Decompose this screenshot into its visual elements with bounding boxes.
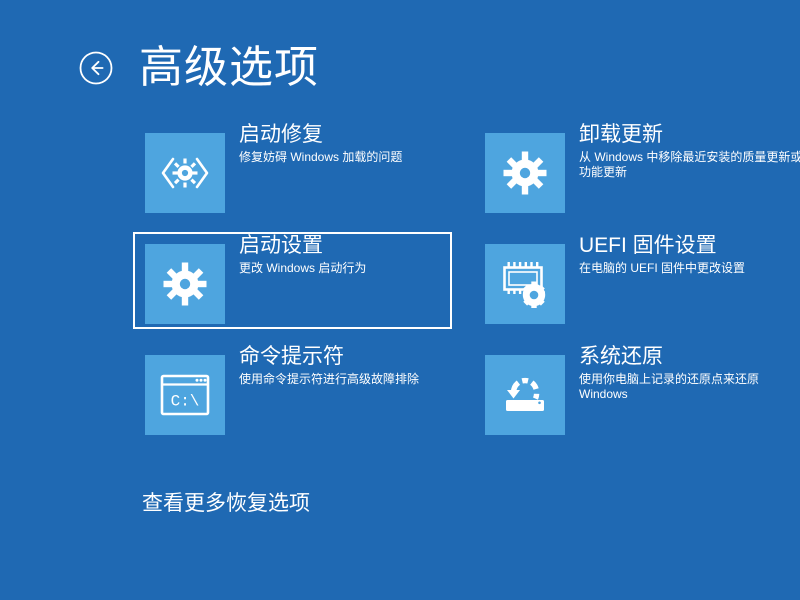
- tile-title: 命令提示符: [239, 344, 469, 370]
- gear-icon: [145, 244, 225, 324]
- tile-command-prompt[interactable]: C:\ 命令提示符 使用命令提示符进行高级故障排除: [145, 355, 465, 435]
- brackets-gear-icon: [145, 133, 225, 213]
- tile-text: 启动设置 更改 Windows 启动行为: [239, 233, 469, 276]
- svg-text:C:\: C:\: [171, 393, 200, 411]
- tile-title: 系统还原: [579, 344, 800, 370]
- tile-title: UEFI 固件设置: [579, 233, 800, 259]
- options-row-2: 启动设置 更改 Windows 启动行为: [0, 244, 800, 324]
- options-grid: 启动修复 修复妨碍 Windows 加载的问题: [0, 0, 800, 600]
- restore-drive-icon: [485, 355, 565, 435]
- gear-icon: [485, 133, 565, 213]
- tile-system-restore[interactable]: 系统还原 使用你电脑上记录的还原点来还原 Windows: [485, 355, 800, 435]
- tile-description: 使用你电脑上记录的还原点来还原 Windows: [579, 372, 800, 402]
- tile-title: 启动修复: [239, 122, 469, 148]
- tile-text: 卸载更新 从 Windows 中移除最近安装的质量更新或功能更新: [579, 122, 800, 180]
- tile-startup-settings[interactable]: 启动设置 更改 Windows 启动行为: [145, 244, 465, 324]
- console-window-icon: C:\: [145, 355, 225, 435]
- tile-title: 卸载更新: [579, 122, 800, 148]
- advanced-options-screen: 高级选项: [0, 0, 800, 600]
- options-row-3: C:\ 命令提示符 使用命令提示符进行高级故障排除: [0, 355, 800, 435]
- tile-text: 命令提示符 使用命令提示符进行高级故障排除: [239, 344, 469, 387]
- tile-text: 系统还原 使用你电脑上记录的还原点来还原 Windows: [579, 344, 800, 402]
- tile-uefi-firmware-settings[interactable]: UEFI 固件设置 在电脑的 UEFI 固件中更改设置: [485, 244, 800, 324]
- tile-uninstall-updates[interactable]: 卸载更新 从 Windows 中移除最近安装的质量更新或功能更新: [485, 133, 800, 213]
- tile-startup-repair[interactable]: 启动修复 修复妨碍 Windows 加载的问题: [145, 133, 465, 213]
- tile-text: UEFI 固件设置 在电脑的 UEFI 固件中更改设置: [579, 233, 800, 276]
- tile-description: 从 Windows 中移除最近安装的质量更新或功能更新: [579, 150, 800, 180]
- chip-gear-icon: [485, 244, 565, 324]
- options-row-1: 启动修复 修复妨碍 Windows 加载的问题: [0, 133, 800, 213]
- tile-description: 在电脑的 UEFI 固件中更改设置: [579, 261, 800, 276]
- tile-text: 启动修复 修复妨碍 Windows 加载的问题: [239, 122, 469, 165]
- tile-title: 启动设置: [239, 233, 469, 259]
- tile-description: 修复妨碍 Windows 加载的问题: [239, 150, 469, 165]
- see-more-recovery-options-link[interactable]: 查看更多恢复选项: [142, 491, 310, 517]
- tile-description: 使用命令提示符进行高级故障排除: [239, 372, 469, 387]
- tile-description: 更改 Windows 启动行为: [239, 261, 469, 276]
